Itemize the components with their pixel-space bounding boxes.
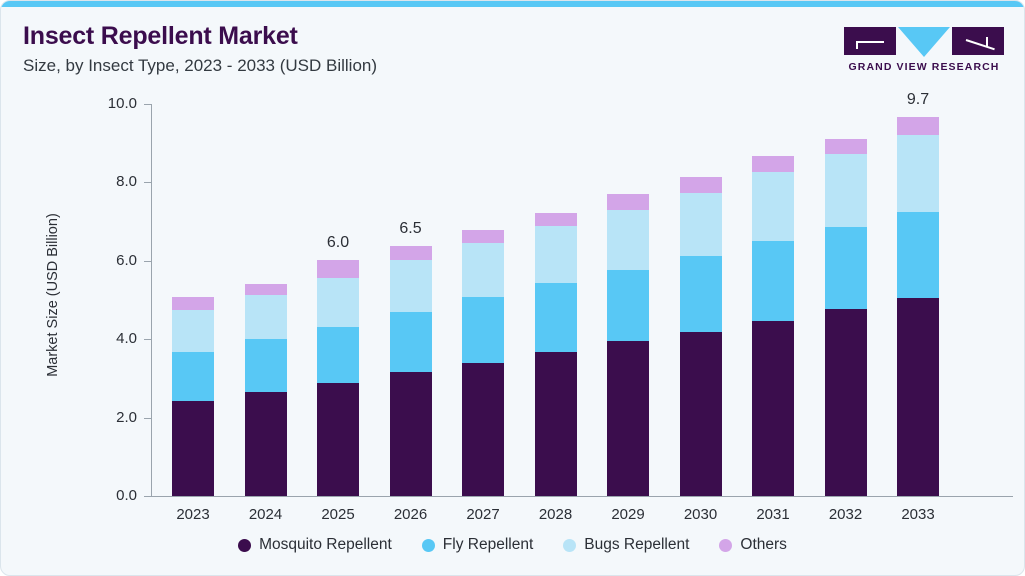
y-tick-mark bbox=[144, 496, 151, 497]
bar-stack[interactable] bbox=[680, 104, 722, 496]
bar-segment[interactable] bbox=[825, 139, 867, 154]
bar-segment[interactable] bbox=[317, 383, 359, 496]
bar-segment[interactable] bbox=[897, 298, 939, 496]
chart-subtitle: Size, by Insect Type, 2023 - 2033 (USD B… bbox=[23, 55, 843, 77]
y-tick-label: 8.0 bbox=[89, 173, 137, 190]
y-tick-mark bbox=[144, 339, 151, 340]
legend-item[interactable]: Others bbox=[719, 536, 787, 554]
bar-stack[interactable] bbox=[535, 104, 577, 496]
chart-header: Insect Repellent Market Size, by Insect … bbox=[23, 21, 843, 77]
bar-segment[interactable] bbox=[680, 332, 722, 496]
bar-segment[interactable] bbox=[317, 260, 359, 278]
bar-segment[interactable] bbox=[897, 117, 939, 135]
bar-segment[interactable] bbox=[390, 246, 432, 260]
legend-label: Bugs Repellent bbox=[584, 536, 689, 554]
bar-segment[interactable] bbox=[607, 194, 649, 210]
bar-stack[interactable] bbox=[390, 104, 432, 496]
y-tick-mark bbox=[144, 418, 151, 419]
legend-item[interactable]: Fly Repellent bbox=[422, 536, 533, 554]
bar-segment[interactable] bbox=[390, 260, 432, 312]
bar-stack[interactable] bbox=[752, 104, 794, 496]
bar-segment[interactable] bbox=[535, 352, 577, 496]
bar-segment[interactable] bbox=[825, 154, 867, 227]
legend-color-dot bbox=[563, 539, 576, 552]
bar-segment[interactable] bbox=[607, 341, 649, 496]
bar-segment[interactable] bbox=[172, 297, 214, 310]
bar-segment[interactable] bbox=[172, 310, 214, 352]
logo-text: GRAND VIEW RESEARCH bbox=[844, 61, 1004, 73]
bar-segment[interactable] bbox=[245, 295, 287, 339]
bar-segment[interactable] bbox=[752, 321, 794, 496]
legend-item[interactable]: Bugs Repellent bbox=[563, 536, 689, 554]
rectangle-with-line-icon bbox=[844, 27, 896, 55]
logo-marks bbox=[844, 27, 1004, 57]
bar-segment[interactable] bbox=[535, 283, 577, 352]
bar-segment[interactable] bbox=[752, 156, 794, 172]
bar-stack[interactable] bbox=[825, 104, 867, 496]
bar-segment[interactable] bbox=[897, 135, 939, 212]
legend-label: Mosquito Repellent bbox=[259, 536, 392, 554]
bar-segment[interactable] bbox=[680, 256, 722, 332]
legend-item[interactable]: Mosquito Repellent bbox=[238, 536, 392, 554]
y-tick-label: 2.0 bbox=[89, 409, 137, 426]
brand-logo: GRAND VIEW RESEARCH bbox=[844, 27, 1004, 73]
bar-segment[interactable] bbox=[317, 278, 359, 327]
bar-segment[interactable] bbox=[607, 210, 649, 270]
x-tick-label: 2033 bbox=[873, 506, 963, 523]
bar-segment[interactable] bbox=[752, 172, 794, 241]
top-accent-bar bbox=[1, 1, 1025, 7]
bar-segment[interactable] bbox=[897, 212, 939, 297]
legend-color-dot bbox=[422, 539, 435, 552]
bar-segment[interactable] bbox=[245, 284, 287, 295]
bar-segment[interactable] bbox=[390, 312, 432, 372]
bar-value-label: 9.7 bbox=[873, 91, 963, 109]
bar-segment[interactable] bbox=[680, 177, 722, 193]
chart-legend: Mosquito RepellentFly RepellentBugs Repe… bbox=[1, 536, 1024, 554]
legend-label: Fly Repellent bbox=[443, 536, 533, 554]
y-tick-label: 0.0 bbox=[89, 487, 137, 504]
bar-segment[interactable] bbox=[245, 392, 287, 495]
page-title: Insect Repellent Market bbox=[23, 21, 843, 51]
y-tick-label: 4.0 bbox=[89, 330, 137, 347]
bar-segment[interactable] bbox=[462, 230, 504, 243]
bar-segment[interactable] bbox=[680, 193, 722, 256]
bar-segment[interactable] bbox=[390, 372, 432, 496]
bar-segment[interactable] bbox=[462, 297, 504, 363]
legend-label: Others bbox=[740, 536, 787, 554]
y-tick-mark bbox=[144, 261, 151, 262]
bar-segment[interactable] bbox=[172, 352, 214, 401]
bar-segment[interactable] bbox=[462, 363, 504, 496]
bar-segment[interactable] bbox=[752, 241, 794, 321]
bar-stack[interactable] bbox=[607, 104, 649, 496]
y-tick-mark bbox=[144, 182, 151, 183]
plot-area: Market Size (USD Billion) 0.02.04.06.08.… bbox=[1, 91, 1025, 511]
y-tick-label: 6.0 bbox=[89, 252, 137, 269]
legend-color-dot bbox=[719, 539, 732, 552]
bar-stack[interactable] bbox=[462, 104, 504, 496]
bar-stack[interactable] bbox=[317, 104, 359, 496]
legend-color-dot bbox=[238, 539, 251, 552]
bar-stack[interactable] bbox=[172, 104, 214, 496]
bar-stack[interactable] bbox=[897, 104, 939, 496]
bar-segment[interactable] bbox=[825, 227, 867, 310]
bar-segment[interactable] bbox=[535, 226, 577, 284]
x-axis-line bbox=[151, 496, 1013, 497]
rectangle-with-diagonal-icon bbox=[952, 27, 1004, 55]
y-tick-mark bbox=[144, 104, 151, 105]
bar-segment[interactable] bbox=[462, 243, 504, 297]
bar-segment[interactable] bbox=[172, 401, 214, 496]
bar-segment[interactable] bbox=[535, 213, 577, 225]
bar-segment[interactable] bbox=[825, 309, 867, 496]
y-tick-label: 10.0 bbox=[89, 95, 137, 112]
bar-segment[interactable] bbox=[245, 339, 287, 392]
chart-card: Insect Repellent Market Size, by Insect … bbox=[0, 0, 1025, 576]
bar-segment[interactable] bbox=[607, 270, 649, 341]
bar-segment[interactable] bbox=[317, 327, 359, 383]
y-axis-line bbox=[151, 104, 152, 496]
bar-stack[interactable] bbox=[245, 104, 287, 496]
bar-value-label: 6.5 bbox=[366, 220, 456, 238]
down-triangle-icon bbox=[898, 27, 950, 57]
y-axis-title: Market Size (USD Billion) bbox=[45, 145, 61, 445]
